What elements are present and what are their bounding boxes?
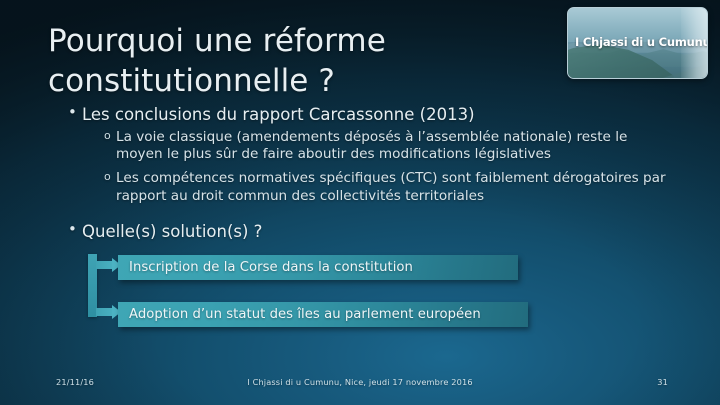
- solution-box-parlement-europeen: Adoption d’un statut des îles au parleme…: [118, 302, 528, 327]
- bullet-level1-conclusions: Les conclusions du rapport Carcassonne (…: [68, 104, 668, 126]
- solution-box-constitution: Inscription de la Corse dans la constitu…: [118, 255, 518, 280]
- presentation-slide: Pourquoi une réforme constitutionnelle ?…: [0, 0, 720, 405]
- footer-event-title: I Chjassi di u Cumunu, Nice, jeudi 17 no…: [0, 377, 720, 387]
- bullet-level1-solutions: Quelle(s) solution(s) ?: [68, 221, 668, 243]
- bracket-arm-bottom: [96, 308, 113, 316]
- title-line-1: Pourquoi une réforme: [48, 22, 548, 62]
- solutions-flow: Inscription de la Corse dans la constitu…: [88, 252, 528, 332]
- slide-body: Les conclusions du rapport Carcassonne (…: [68, 104, 668, 246]
- logo-image: I Chjassi di u Cumunu: [567, 7, 708, 79]
- bullet-level2-voie-classique: La voie classique (amendements déposés à…: [104, 129, 668, 164]
- logo-text: I Chjassi di u Cumunu: [575, 35, 701, 49]
- page-title: Pourquoi une réforme constitutionnelle ?: [48, 22, 548, 101]
- slide-footer: 21/11/16 I Chjassi di u Cumunu, Nice, je…: [0, 377, 720, 391]
- bullet-level2-competences: Les compétences normatives spécifiques (…: [104, 170, 668, 205]
- footer-page-number: 31: [657, 377, 668, 387]
- bracket-arm-top: [96, 261, 113, 269]
- title-line-2: constitutionnelle ?: [48, 62, 548, 102]
